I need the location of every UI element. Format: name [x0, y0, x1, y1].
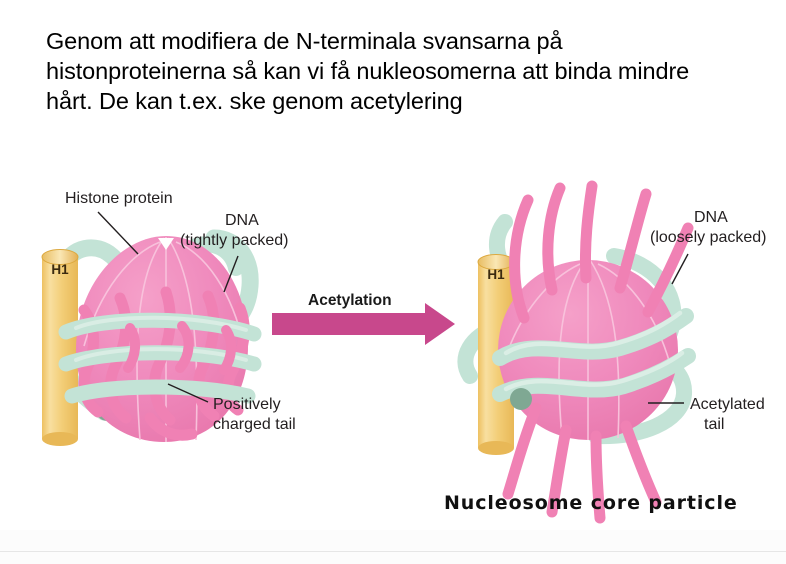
dna-tight-label-line2: (tightly packed): [180, 232, 289, 249]
dna-loose-label-line2: (loosely packed): [650, 229, 767, 246]
acetylation-arrow-shape: [272, 303, 455, 345]
positively-charged-tail-label-line1: Positively: [213, 396, 281, 413]
h1-label-left: H1: [51, 262, 69, 277]
histone-protein-label: Histone protein: [65, 190, 173, 207]
acetylated-tail-label-line2: tail: [704, 416, 724, 433]
acetylated-tail-label-line1: Acetylated: [690, 396, 765, 413]
diagram-caption: Nucleosome core particle: [444, 492, 738, 514]
heading-line-1: Genom att modifiera de N-terminala svans…: [46, 26, 762, 56]
dna-tight-label-line1: DNA: [225, 212, 259, 229]
acetylation-label: Acetylation: [308, 292, 392, 309]
dna-end-cap-right: [510, 388, 532, 410]
dna-loose-label-line1: DNA: [694, 209, 728, 226]
h1-label-right: H1: [487, 267, 505, 282]
left-nucleosome-group: H1: [42, 236, 254, 446]
slide-canvas: Genom att modifiera de N-terminala svans…: [0, 0, 786, 564]
page-title: Genom att modifiera de N-terminala svans…: [46, 26, 762, 116]
heading-line-2: histonproteinerna så kan vi få nukleosom…: [46, 56, 762, 86]
positively-charged-tail-label-line2: charged tail: [213, 416, 296, 433]
bottom-band: [0, 530, 786, 564]
h1-cylinder-left: H1: [42, 250, 78, 447]
nucleosome-acetylation-diagram: H1: [0, 150, 786, 550]
heading-line-3: hårt. De kan t.ex. ske genom acetylering: [46, 86, 762, 116]
acetylation-arrow-group: Acetylation: [272, 292, 455, 345]
bottom-divider: [0, 551, 786, 552]
